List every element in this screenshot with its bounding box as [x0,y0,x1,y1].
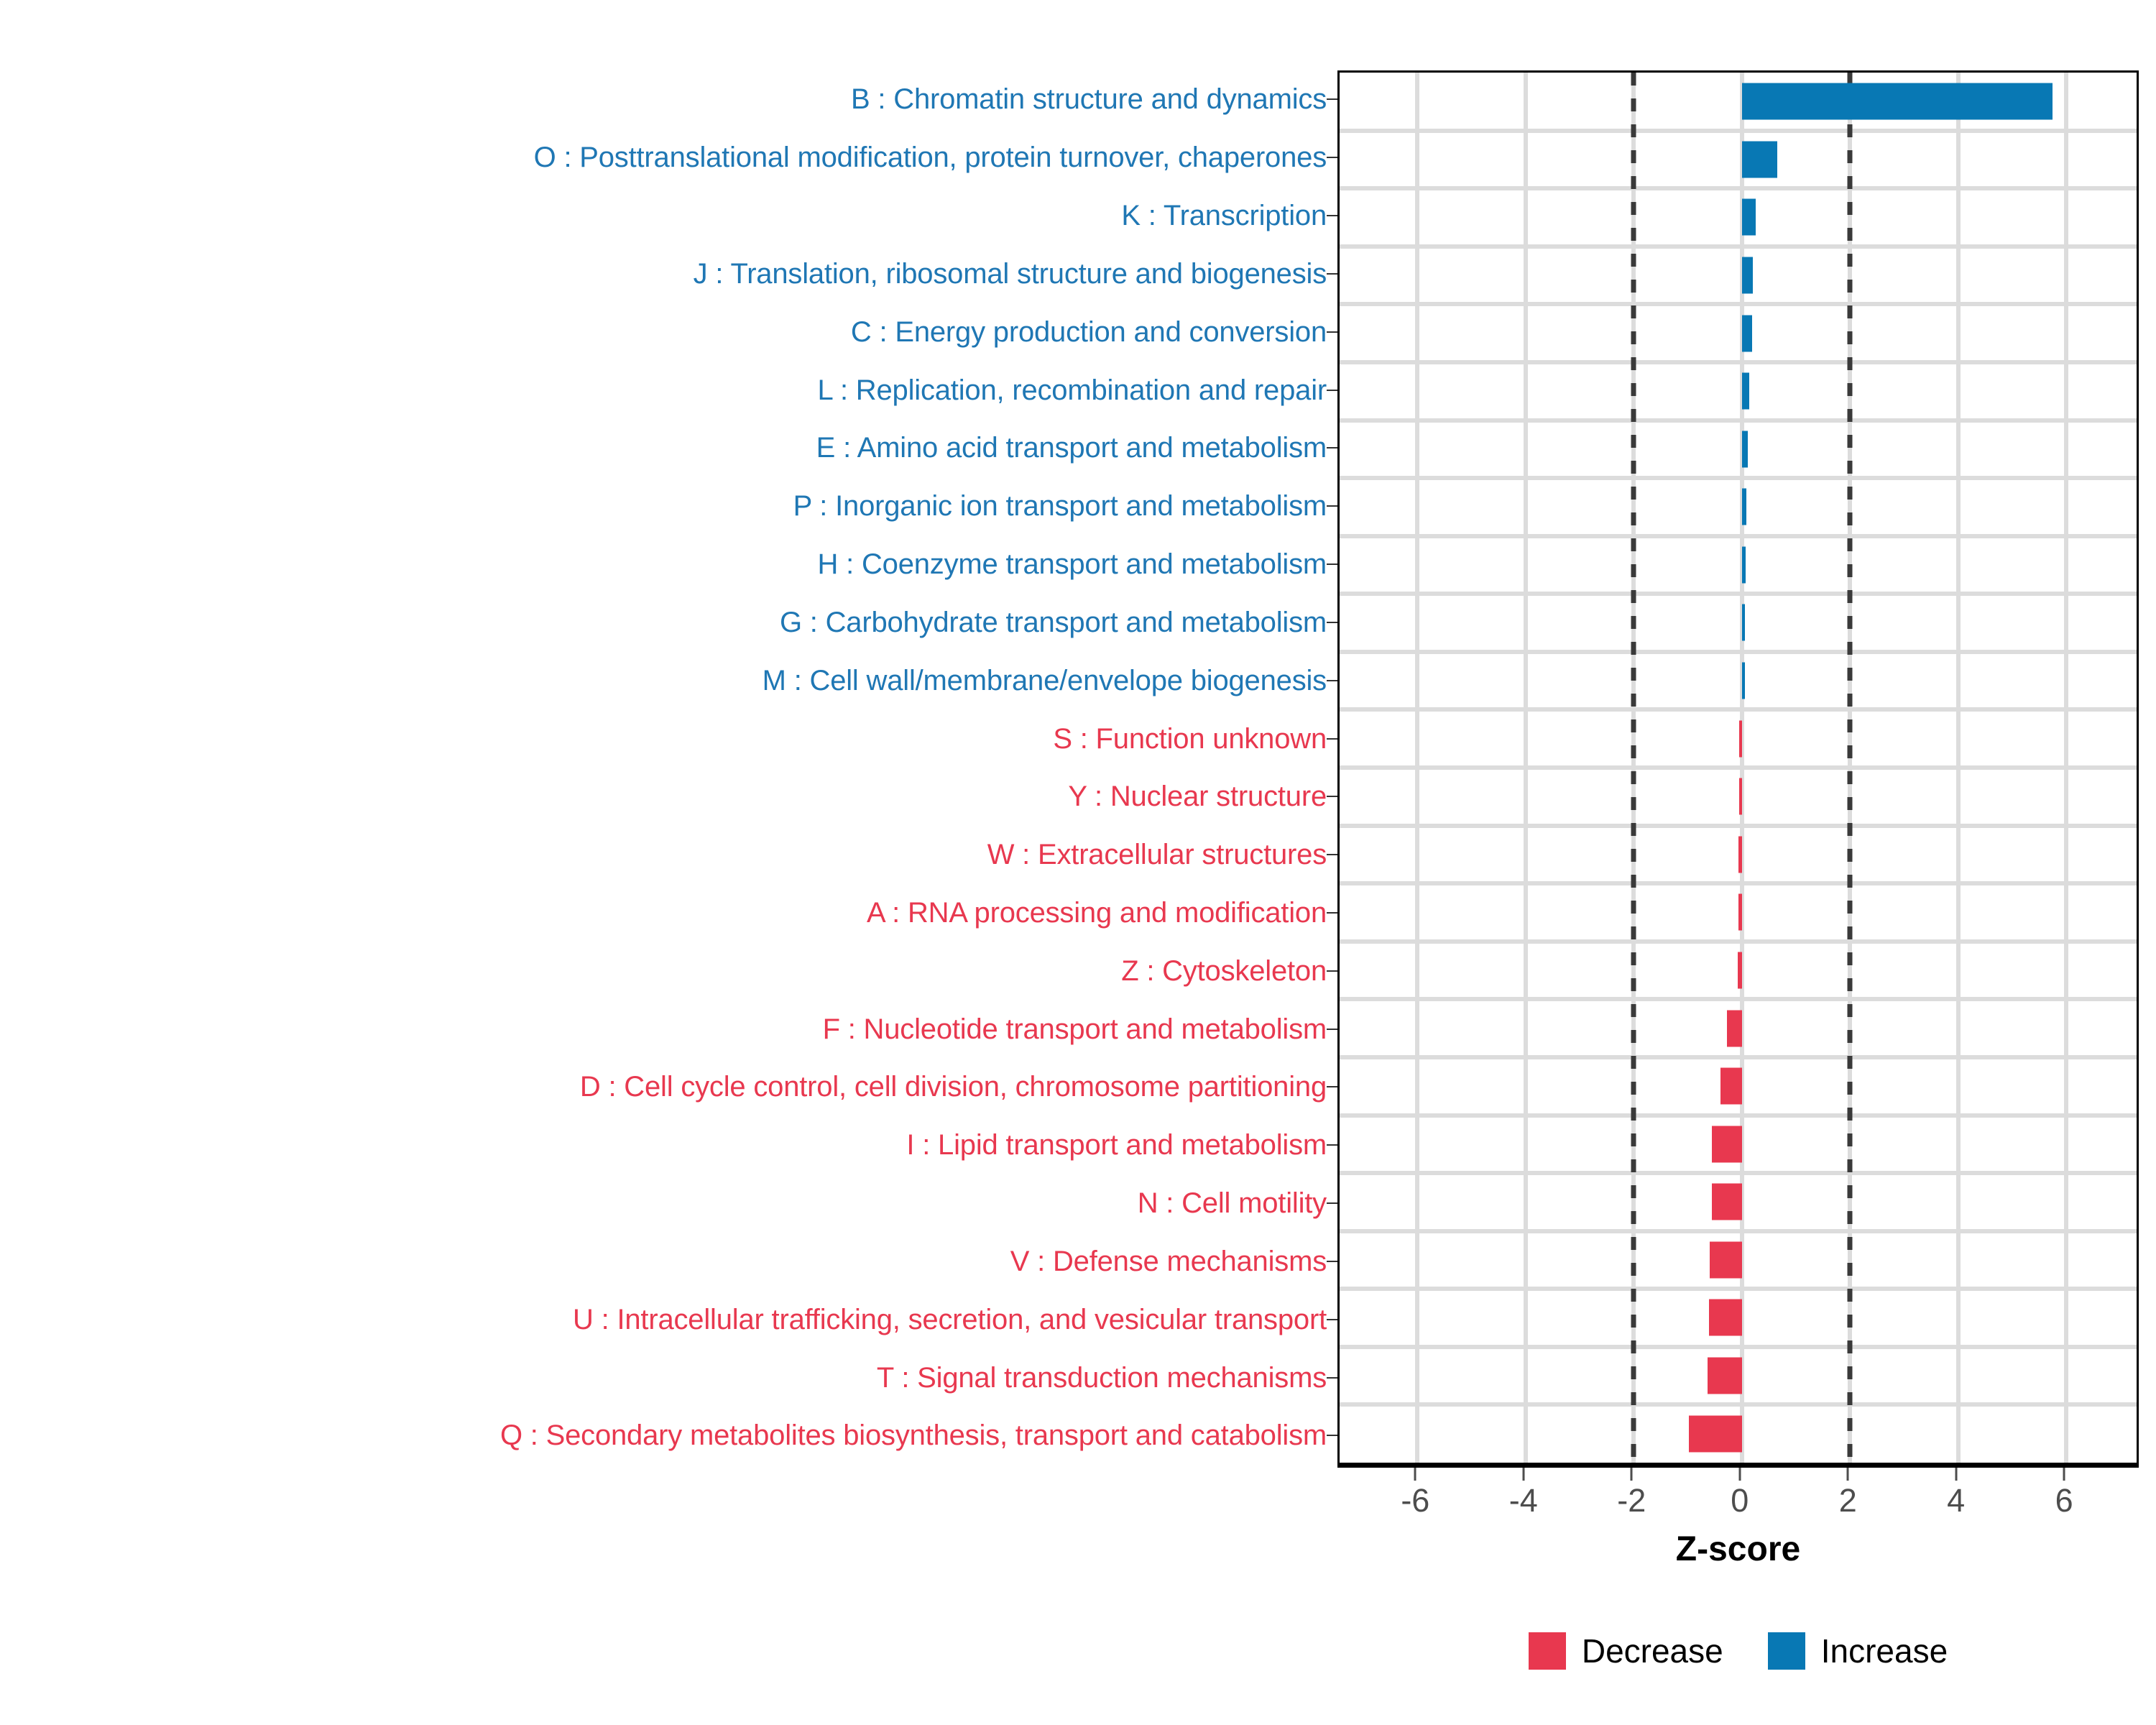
y-axis-tick [1327,1233,1337,1291]
x-axis-tick-label: -2 [1617,1482,1646,1519]
bar-row [1340,1289,2137,1347]
bar-row [1340,1057,2137,1115]
bar [1738,836,1742,873]
bar-row [1340,536,2137,594]
y-axis-tick [1327,419,1337,477]
y-axis-label-row: F : Nucleotide transport and metabolism [0,1000,1327,1058]
y-axis-tick-mark [1327,390,1337,391]
bar-row [1340,1347,2137,1405]
y-axis-tick [1327,1348,1337,1407]
y-axis-tick [1327,884,1337,942]
bar [1742,604,1745,641]
bar [1742,373,1749,410]
y-axis-label: A : RNA processing and modification [867,898,1327,927]
bar [1742,489,1746,525]
legend: DecreaseIncrease [1337,1632,2139,1670]
y-axis-label: D : Cell cycle control, cell division, c… [580,1072,1327,1101]
legend-item[interactable]: Decrease [1529,1632,1723,1670]
y-axis-tick-mark [1327,215,1337,216]
y-axis-tick [1327,244,1337,303]
y-axis-label-row: W : Extracellular structures [0,826,1327,884]
bar-row [1340,247,2137,305]
x-axis-tick-label: 6 [2055,1482,2073,1519]
y-axis-tick [1327,593,1337,651]
x-axis-tick-label: 4 [1947,1482,1965,1519]
y-axis-label: T : Signal transduction mechanisms [877,1363,1327,1392]
bar [1710,1241,1742,1278]
x-axis-tick-label: -6 [1401,1482,1429,1519]
bar [1709,1299,1742,1336]
y-axis-tick [1327,129,1337,187]
y-axis-label: Y : Nuclear structure [1068,782,1327,811]
y-axis-label-column: B : Chromatin structure and dynamicsO : … [0,70,1327,1465]
y-axis-tick [1327,1058,1337,1116]
y-axis-label-row: Y : Nuclear structure [0,768,1327,826]
legend-label: Increase [1821,1632,1948,1670]
x-axis-tick-mark [1631,1468,1633,1481]
y-axis-tick [1327,1407,1337,1465]
y-axis-label-row: T : Signal transduction mechanisms [0,1348,1327,1407]
legend-item[interactable]: Increase [1768,1632,1948,1670]
y-axis-label: C : Energy production and conversion [851,318,1327,346]
x-axis-tick-label: -4 [1509,1482,1538,1519]
y-axis-label-row: U : Intracellular trafficking, secretion… [0,1290,1327,1348]
legend-swatch [1529,1632,1566,1670]
y-axis-label-row: E : Amino acid transport and metabolism [0,419,1327,477]
x-axis-tick-mark [1738,1468,1741,1481]
y-axis-label-row: S : Function unknown [0,709,1327,768]
bar [1742,315,1752,351]
bar [1689,1415,1742,1452]
bar-row [1340,73,2137,131]
bar [1738,952,1741,988]
y-axis-tick-mark [1327,1261,1337,1262]
bar [1742,83,2053,120]
y-axis-label: E : Amino acid transport and metabolism [816,433,1327,462]
y-axis-tick [1327,1000,1337,1058]
y-axis-tick [1327,303,1337,361]
y-axis-label-row: G : Carbohydrate transport and metabolis… [0,593,1327,651]
bar-row [1340,768,2137,826]
y-axis-label: J : Translation, ribosomal structure and… [694,259,1327,288]
bar-row [1340,131,2137,189]
y-axis-label-row: K : Transcription [0,187,1327,245]
y-axis-label-row: Z : Cytoskeleton [0,942,1327,1000]
y-axis-label-row: L : Replication, recombination and repai… [0,361,1327,419]
y-axis-label: H : Coenzyme transport and metabolism [818,550,1327,579]
y-axis-tick-mark [1327,447,1337,448]
bar-row [1340,594,2137,652]
y-axis-label-row: I : Lipid transport and metabolism [0,1116,1327,1174]
y-axis-label-row: M : Cell wall/membrane/envelope biogenes… [0,651,1327,709]
x-axis-tick-mark [1414,1468,1416,1481]
bar-row [1340,883,2137,942]
plot-panel [1337,70,2139,1465]
bar-row [1340,1115,2137,1173]
y-axis-label: S : Function unknown [1053,724,1327,753]
y-axis-tick-mark [1327,157,1337,158]
y-axis-label: I : Lipid transport and metabolism [906,1131,1327,1159]
y-axis-label: N : Cell motility [1138,1189,1327,1218]
y-axis-tick [1327,535,1337,594]
y-axis-tick-mark [1327,98,1337,100]
y-axis-tick-mark [1327,273,1337,275]
y-axis-label: G : Carbohydrate transport and metabolis… [780,608,1327,637]
x-axis-tick-mark [1847,1468,1849,1481]
bar [1742,257,1753,294]
x-axis-tick-mark [1522,1468,1524,1481]
y-axis-label-row: Q : Secondary metabolites biosynthesis, … [0,1407,1327,1465]
bar-row [1340,1404,2137,1463]
y-axis-tick [1327,826,1337,884]
y-axis-tick-mark [1327,796,1337,797]
y-axis-label: W : Extracellular structures [987,840,1327,869]
y-axis-tick-mark [1327,1202,1337,1204]
y-axis-tick-mark [1327,854,1337,855]
y-axis-tick [1327,942,1337,1000]
y-axis-label: Q : Secondary metabolites biosynthesis, … [500,1421,1327,1450]
x-axis-title: Z-score [1337,1529,2139,1569]
y-axis-tick-mark [1327,1319,1337,1320]
y-axis-label-row: H : Coenzyme transport and metabolism [0,535,1327,594]
bar [1742,199,1756,236]
bar-row [1340,1231,2137,1289]
y-axis-tick-mark [1327,1435,1337,1436]
cog-zscore-figure: B : Chromatin structure and dynamicsO : … [0,0,2156,1725]
y-axis-tick-mark [1327,563,1337,565]
bar-row [1340,709,2137,768]
bar-row [1340,942,2137,1000]
x-axis-tick-label: 0 [1731,1482,1749,1519]
bar-row [1340,420,2137,478]
y-axis-tick-mark [1327,505,1337,507]
y-axis-label-row: O : Posttranslational modification, prot… [0,129,1327,187]
y-axis-tick [1327,1290,1337,1348]
y-axis-tick-mark [1327,1144,1337,1146]
y-axis-tick-mark [1327,331,1337,333]
y-axis-tick-mark [1327,1086,1337,1087]
y-axis-label-row: J : Translation, ribosomal structure and… [0,244,1327,303]
x-axis-tick-mark [2063,1468,2065,1481]
bar-row [1340,478,2137,536]
y-axis-label: M : Cell wall/membrane/envelope biogenes… [763,666,1327,695]
y-axis-label: U : Intracellular trafficking, secretion… [573,1305,1327,1334]
bar [1742,546,1746,583]
y-axis-tick [1327,361,1337,419]
x-axis-tick-mark [1955,1468,1957,1481]
bar [1739,720,1742,757]
y-axis-label-row: A : RNA processing and modification [0,884,1327,942]
y-axis-label-row: C : Energy production and conversion [0,303,1327,361]
legend-swatch [1768,1632,1805,1670]
y-axis-label-row: N : Cell motility [0,1174,1327,1233]
y-axis-tick-mark [1327,912,1337,914]
bar-row [1340,999,2137,1057]
y-axis-label: L : Replication, recombination and repai… [818,376,1327,405]
y-axis-label: F : Nucleotide transport and metabolism [823,1015,1327,1044]
y-axis-label-row: D : Cell cycle control, cell division, c… [0,1058,1327,1116]
bar [1712,1184,1741,1220]
bar [1742,663,1745,699]
bar [1742,141,1777,178]
bar [1708,1358,1742,1394]
y-axis-label-row: V : Defense mechanisms [0,1233,1327,1291]
bar-row [1340,826,2137,884]
bar [1738,894,1742,931]
y-axis-tick [1327,477,1337,535]
y-axis-tick [1327,651,1337,709]
bar [1720,1068,1741,1105]
y-axis-label: P : Inorganic ion transport and metaboli… [793,492,1327,520]
y-axis-label: K : Transcription [1121,201,1327,230]
bar-row [1340,188,2137,247]
bar [1712,1126,1741,1162]
y-axis-tick-mark [1327,622,1337,623]
y-axis-tick [1327,1116,1337,1174]
bar-row [1340,1173,2137,1231]
legend-label: Decrease [1582,1632,1723,1670]
y-axis-label: B : Chromatin structure and dynamics [851,85,1327,114]
y-axis-label-row: B : Chromatin structure and dynamics [0,70,1327,129]
y-axis-tick-mark [1327,970,1337,972]
y-axis-tick [1327,70,1337,129]
bar [1742,431,1748,467]
y-axis-tick-mark [1327,680,1337,681]
bar-series [1340,73,2137,1463]
y-axis-tick-mark [1327,1377,1337,1379]
y-axis-tick [1327,187,1337,245]
bar-row [1340,362,2137,420]
bar [1739,778,1742,815]
y-axis-tick [1327,1174,1337,1233]
bar-row [1340,652,2137,710]
y-axis-label: V : Defense mechanisms [1010,1247,1327,1276]
y-axis-label-row: P : Inorganic ion transport and metaboli… [0,477,1327,535]
y-axis-label: Z : Cytoskeleton [1121,957,1327,985]
y-axis-tick-mark [1327,738,1337,740]
y-axis-tick-column [1327,70,1337,1465]
bar [1727,1010,1741,1046]
y-axis-tick-mark [1327,1029,1337,1030]
y-axis-label: O : Posttranslational modification, prot… [534,143,1327,172]
y-axis-tick [1327,709,1337,768]
x-axis-tick-label: 2 [1839,1482,1857,1519]
bar-row [1340,304,2137,362]
y-axis-tick [1327,768,1337,826]
